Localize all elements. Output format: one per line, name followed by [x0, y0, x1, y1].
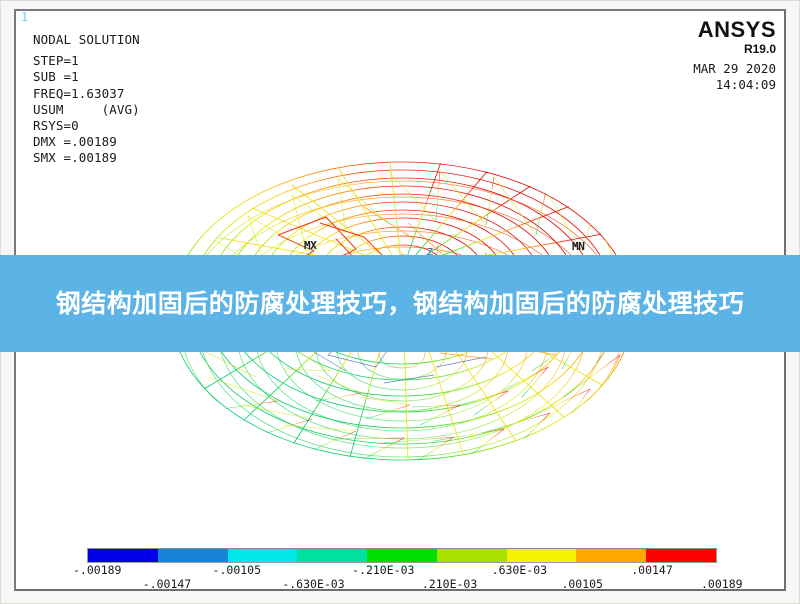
solution-rsys: RSYS=0	[33, 118, 79, 133]
solution-dmx: DMX =.00189	[33, 134, 117, 149]
solution-freq: FREQ=1.63037	[33, 86, 125, 101]
colorbar-band-5	[437, 549, 507, 562]
colorbar-band-6	[507, 549, 577, 562]
colorbar-tick-9: .00189	[701, 577, 743, 591]
brand-revision: R19.0	[698, 42, 776, 57]
colorbar-tick-1: -.00147	[143, 577, 191, 591]
colorbar-band-7	[576, 549, 646, 562]
colorbar-tick-4: -.210E-03	[352, 563, 414, 577]
solution-title: NODAL SOLUTION	[33, 32, 140, 47]
min-value-marker: MN	[572, 240, 584, 253]
ansys-brand: ANSYS R19.0	[698, 19, 776, 57]
colorbar-band-4	[367, 549, 437, 562]
stamp-date: MAR 29 2020	[693, 61, 776, 76]
stamp-time: 14:04:09	[716, 77, 776, 92]
colorbar-band-8	[646, 549, 716, 562]
timestamp-block: MAR 29 2020 14:04:09	[693, 61, 776, 93]
max-value-marker: MX	[304, 239, 316, 252]
caption-banner-overlay: 钢结构加固后的防腐处理技巧，钢结构加固后的防腐处理技巧	[0, 255, 800, 352]
colorbar-band-1	[158, 549, 228, 562]
solution-step: STEP=1	[33, 53, 79, 68]
colorbar-tick-6: .630E-03	[492, 563, 547, 577]
colorbar-tick-5: .210E-03	[422, 577, 477, 591]
colorbar-tick-3: -.630E-03	[282, 577, 344, 591]
colorbar-band-2	[228, 549, 298, 562]
ansys-screenshot: 1	[0, 0, 800, 604]
solution-sub: SUB =1	[33, 69, 79, 84]
solution-usum: USUM (AVG)	[33, 102, 140, 117]
solution-smx: SMX =.00189	[33, 150, 117, 165]
colorbar[interactable]	[87, 548, 717, 563]
solution-info-block: NODAL SOLUTIONSTEP=1 SUB =1 FREQ=1.63037…	[33, 32, 140, 167]
contour-legend: -.00189-.00147-.00105-.630E-03-.210E-03.…	[16, 544, 786, 591]
caption-text: 钢结构加固后的防腐处理技巧，钢结构加固后的防腐处理技巧	[56, 285, 745, 323]
colorbar-tick-7: .00105	[561, 577, 603, 591]
brand-name: ANSYS	[698, 19, 776, 41]
colorbar-tick-2: -.00105	[213, 563, 261, 577]
colorbar-tick-0: -.00189	[73, 563, 121, 577]
colorbar-tick-labels: -.00189-.00147-.00105-.630E-03-.210E-03.…	[16, 563, 786, 591]
colorbar-tick-8: .00147	[631, 563, 673, 577]
colorbar-band-3	[297, 549, 367, 562]
colorbar-band-0	[88, 549, 158, 562]
